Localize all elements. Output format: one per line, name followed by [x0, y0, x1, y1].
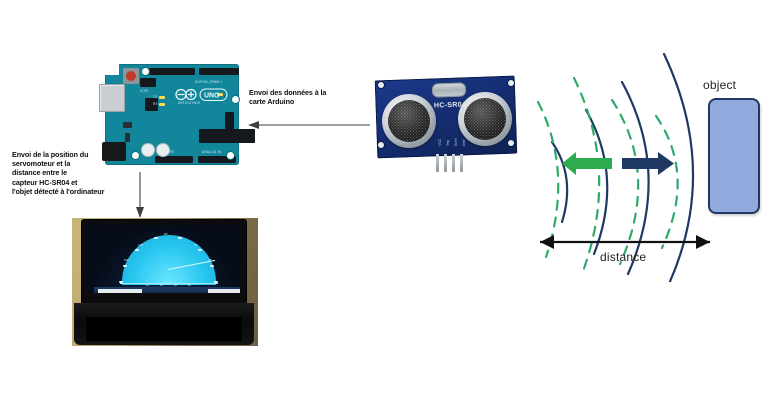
hc-sr04-pin-2	[444, 154, 447, 172]
laptop-lid: 150° 120° 90° 60° 30° 10 20 30 40	[82, 220, 246, 304]
arrow-sensor-to-arduino	[248, 121, 370, 129]
label-position-to-computer: Envoi de la position du servomoteur et l…	[12, 150, 124, 196]
arduino-icsp2-header	[140, 78, 156, 87]
arduino-logo: UNO ARDUINO	[169, 88, 231, 106]
taskbar-button-right[interactable]	[208, 289, 240, 293]
wave-solid-arc-4	[664, 54, 693, 282]
radar-tick-0	[119, 281, 123, 283]
arduino-reset-button[interactable]	[126, 71, 136, 81]
arduino-mount-hole-1	[142, 68, 149, 75]
laptop-keyboard	[86, 317, 242, 341]
hc-sr04-hole-3	[508, 80, 514, 86]
wave-dashed-arc-1	[538, 102, 558, 257]
arrow-arduino-to-laptop	[136, 172, 144, 218]
radar-degree-120: 120°	[138, 244, 143, 247]
arduino-microcontroller	[199, 129, 255, 143]
hc-sr04-crystal	[432, 82, 466, 97]
arduino-regulator	[123, 122, 132, 128]
arduino-smd-cap	[125, 133, 130, 142]
radar-tick-4	[178, 237, 182, 239]
wave-solid-arc-1	[552, 142, 567, 222]
svg-text:ARDUINO: ARDUINO	[178, 100, 201, 105]
arduino-silk-power: POWER	[161, 150, 174, 154]
diagram-canvas: DIGITAL (PWM~) ICSP TX RX L POWER ANALOG…	[0, 0, 768, 404]
svg-text:UNO: UNO	[204, 93, 220, 100]
wave-solid-arc-3	[622, 82, 649, 274]
arduino-mount-hole-4	[132, 152, 139, 159]
radar-tick-3	[154, 237, 158, 239]
arduino-digital-header-a	[149, 68, 195, 75]
hc-sr04-hole-2	[378, 142, 384, 148]
hc-sr04-print: HC-SR04	[434, 101, 466, 109]
radar-dome	[122, 235, 216, 285]
arduino-mount-hole-3	[227, 152, 234, 159]
arduino-led-rx	[159, 103, 165, 106]
wave-dashed-arc-4	[656, 116, 678, 248]
arduino-silk-digital: DIGITAL (PWM~)	[195, 80, 223, 84]
radar-tick-6	[210, 265, 214, 267]
arduino-power-header	[155, 156, 193, 163]
hc-sr04-pin-label-gnd: Gnd	[462, 139, 466, 146]
arduino-usb-port	[99, 84, 125, 112]
label-data-to-arduino: Envoi des données à la carte Arduino	[249, 88, 354, 106]
hc-sr04-pin-4	[460, 154, 463, 172]
arduino-silk-tx: TX	[153, 95, 157, 99]
radar-tick-7	[214, 281, 218, 283]
hc-sr04-transmitter-mesh	[388, 100, 430, 142]
radar-tick-2	[135, 249, 139, 251]
arduino-digital-header-b	[199, 68, 239, 75]
hc-sr04-hole-4	[508, 140, 514, 146]
radar-degree-30: 30°	[208, 259, 212, 262]
arduino-silk-icsp: ICSP	[140, 89, 148, 93]
taskbar-button-left[interactable]	[98, 289, 142, 293]
wave-dashed-arc-3	[612, 100, 638, 264]
hc-sr04-pin-3	[452, 154, 455, 172]
hc-sr04-sensor: HC-SR04 VCC Trig Echo Gnd	[372, 72, 522, 172]
arduino-capacitor-1	[141, 143, 155, 157]
radar-tick-5	[198, 249, 202, 251]
radar-display: 150° 120° 90° 60° 30° 10 20 30 40	[110, 231, 228, 287]
arduino-silk-rx: RX	[153, 102, 158, 106]
arduino-icsp-header	[225, 112, 234, 129]
hc-sr04-hole-1	[378, 82, 384, 88]
arduino-led-tx	[159, 96, 165, 99]
arduino-silk-analog: ANALOG IN	[202, 150, 221, 154]
hc-sr04-pin-label-vcc: VCC	[438, 139, 442, 146]
hc-sr04-receiver-mesh	[464, 98, 506, 140]
laptop-screen: 150° 120° 90° 60° 30° 10 20 30 40	[88, 225, 240, 293]
radar-degree-60: 60°	[194, 244, 198, 247]
hc-sr04-pin-1	[436, 154, 439, 172]
radar-baseline	[120, 283, 218, 284]
wave-solid-arc-2	[586, 110, 607, 254]
hc-sr04-pin-label-echo: Echo	[454, 138, 458, 146]
hc-sr04-pin-label-trig: Trig	[446, 140, 450, 146]
label-distance: distance	[600, 250, 646, 265]
label-object: object	[703, 78, 736, 93]
radar-degree-150: 150°	[124, 259, 129, 262]
arduino-mount-hole-2	[232, 96, 239, 103]
radar-degree-90: 90°	[164, 233, 168, 236]
wave-dashed-arc-2	[574, 78, 599, 274]
arduino-corner-notch	[105, 64, 119, 75]
radar-tick-1	[123, 265, 127, 267]
laptop-photo: 150° 120° 90° 60° 30° 10 20 30 40	[72, 218, 258, 346]
